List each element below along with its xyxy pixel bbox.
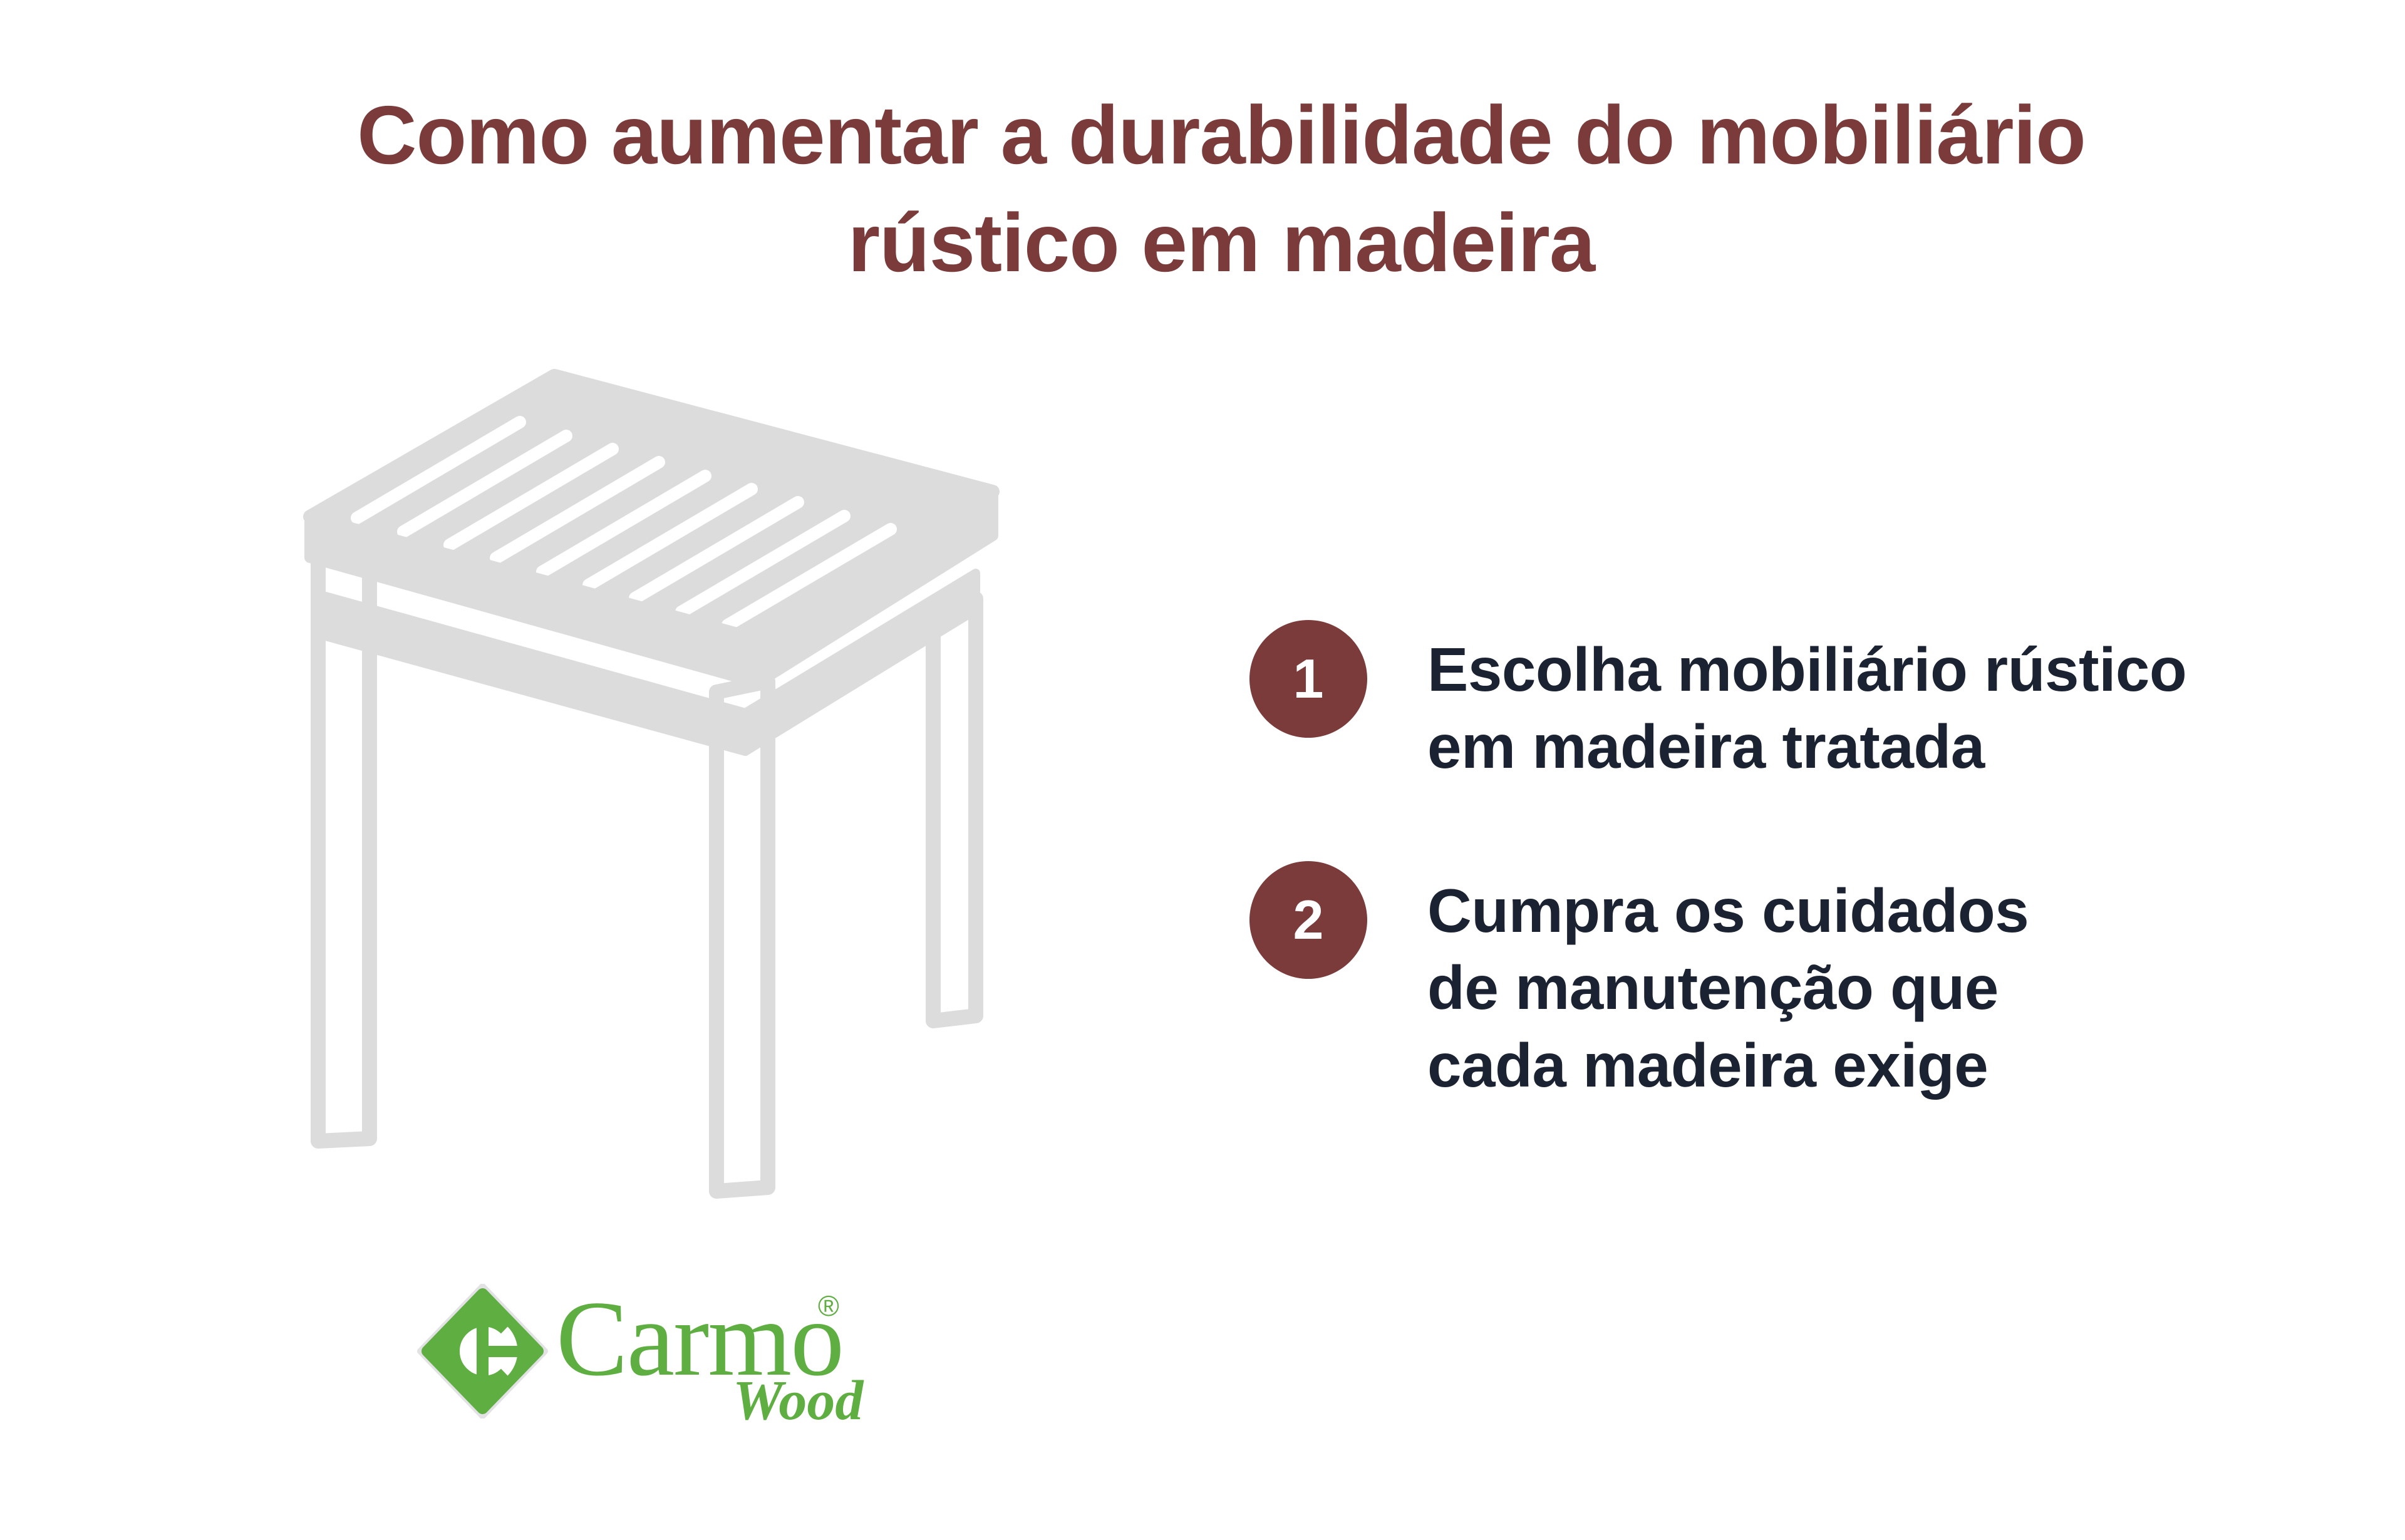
logo-wordmark: Carmo ® Wood (556, 1278, 894, 1434)
infographic-canvas: Como aumentar a durabilidade do mobiliár… (0, 0, 2405, 1540)
step-item-1: 1 Escolha mobiliário rústico em madeira … (1249, 620, 2314, 786)
carmo-diamond-mark-icon (415, 1284, 550, 1419)
mark-horizontal-bar (477, 1346, 523, 1357)
leg-back-right (933, 599, 976, 1021)
leg-front-right (716, 681, 768, 1191)
step-text-1: Escolha mobiliário rústico em madeira tr… (1427, 631, 2314, 786)
step-text-2: Cumpra os cuidados de manutenção que cad… (1427, 872, 2314, 1104)
step-number-badge-2: 2 (1249, 861, 1367, 979)
rustic-table-illustration (269, 351, 1052, 1240)
step-item-2: 2 Cumpra os cuidados de manutenção que c… (1249, 861, 2314, 1104)
logo-subbrand-text: Wood (733, 1373, 863, 1429)
carmo-wood-logo: Carmo ® Wood (415, 1278, 891, 1434)
table-drawing (269, 351, 1052, 1240)
steps-list: 1 Escolha mobiliário rústico em madeira … (1249, 620, 2314, 1104)
registered-trademark-icon: ® (818, 1291, 839, 1320)
step-number-badge-1: 1 (1249, 620, 1367, 738)
page-title: Como aumentar a durabilidade do mobiliár… (351, 81, 2092, 296)
